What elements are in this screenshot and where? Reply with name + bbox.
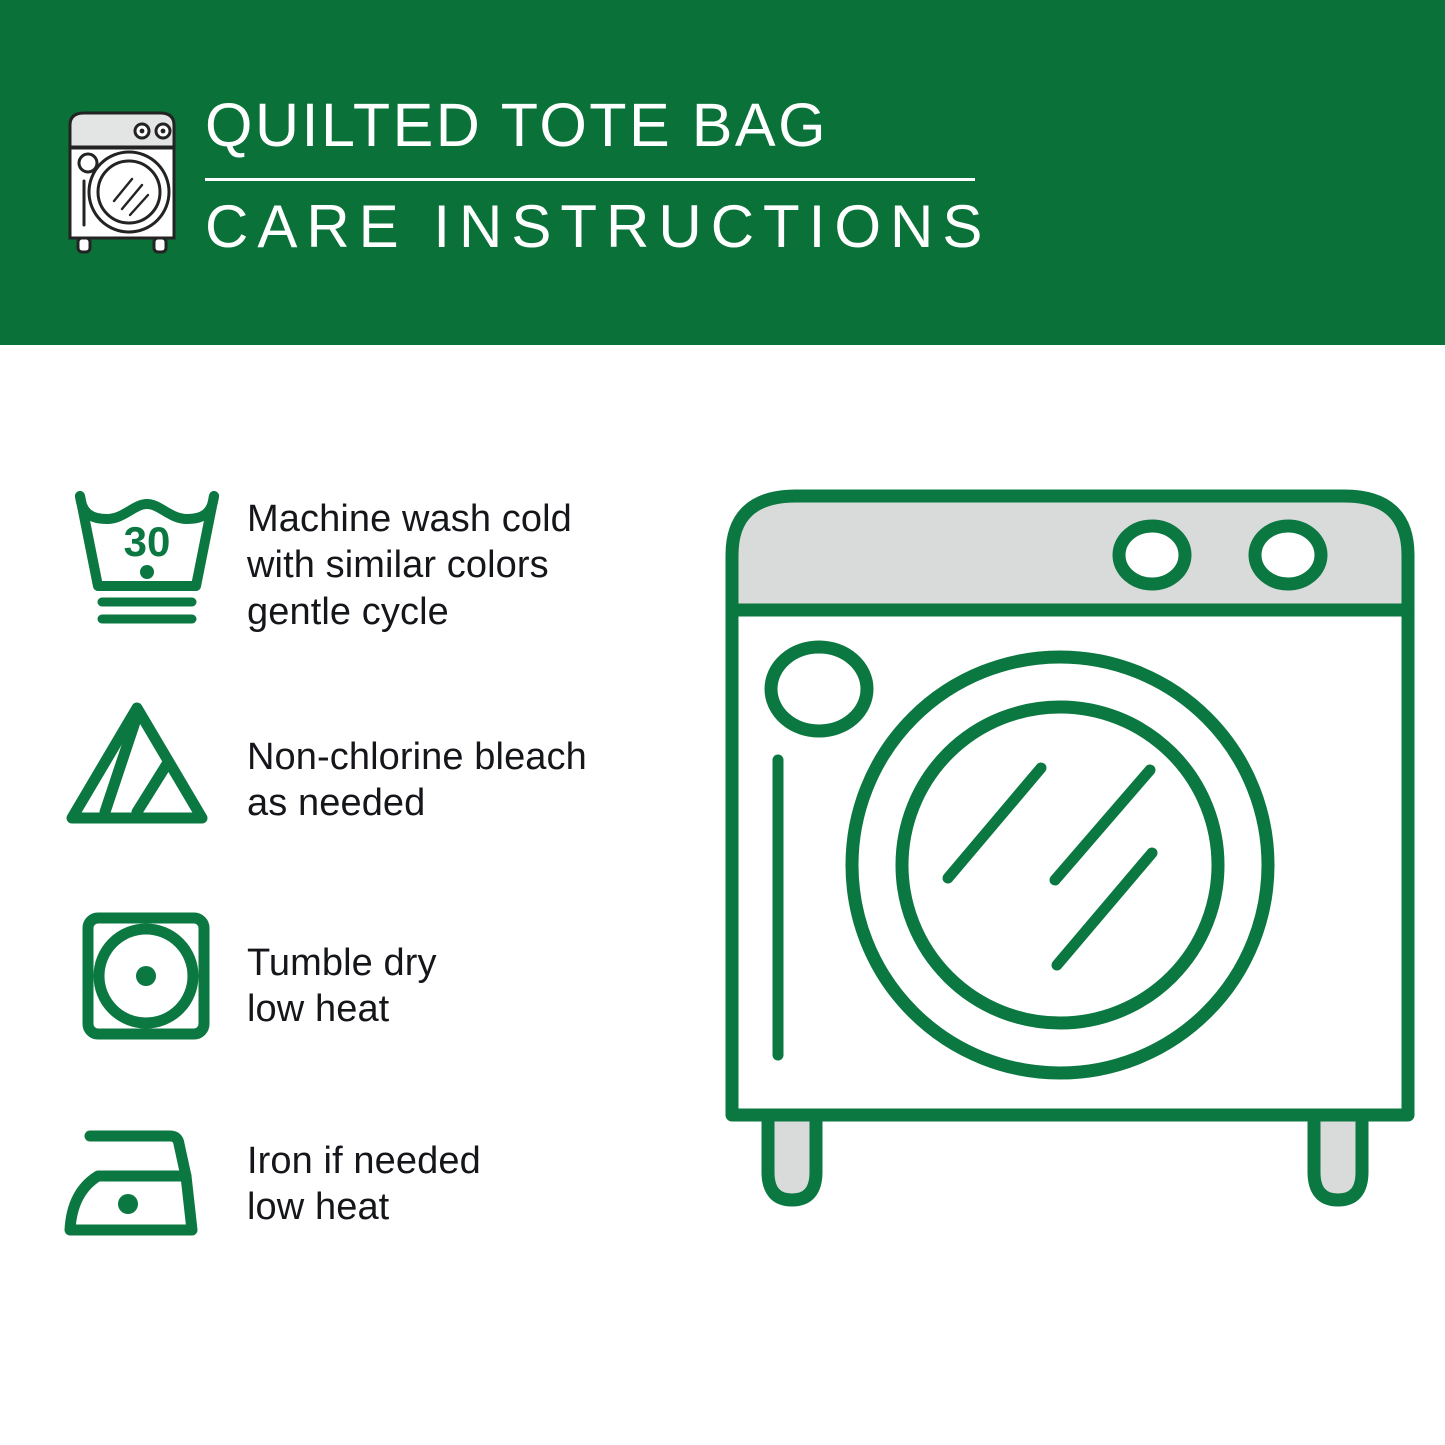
care-row-bleach: Non-chlorine bleach as needed <box>62 688 682 898</box>
door-inner-ring <box>902 707 1218 1023</box>
care-line: Machine wash cold <box>247 496 572 542</box>
care-label-iron: Iron if needed low heat <box>247 1108 481 1231</box>
tumble-dry-low-icon <box>62 898 247 1054</box>
title-divider <box>205 178 975 181</box>
care-instructions-list: 30 Machine wash cold with similar colors… <box>62 478 682 1318</box>
foot-right <box>1314 1115 1362 1200</box>
care-line: gentle cycle <box>247 589 572 635</box>
care-row-iron: Iron if needed low heat <box>62 1108 682 1318</box>
care-line: Tumble dry <box>247 940 437 986</box>
page-subtitle: CARE INSTRUCTIONS <box>205 197 995 257</box>
knob-right <box>1255 526 1321 584</box>
iron-low-heat-icon <box>62 1108 247 1264</box>
care-label-bleach: Non-chlorine bleach as needed <box>247 688 587 827</box>
care-line: low heat <box>247 986 437 1032</box>
care-line: with similar colors <box>247 542 572 588</box>
page-title: QUILTED TOTE BAG <box>205 95 995 156</box>
care-row-machine-wash: 30 Machine wash cold with similar colors… <box>62 478 682 688</box>
knob-left <box>1119 526 1185 584</box>
care-line: Non-chlorine bleach <box>247 734 587 780</box>
care-label-tumble-dry: Tumble dry low heat <box>247 898 437 1033</box>
wash-temp-label: 30 <box>124 518 171 565</box>
washing-machine-illustration <box>700 460 1440 1380</box>
care-line: low heat <box>247 1184 481 1230</box>
care-row-tumble-dry: Tumble dry low heat <box>62 898 682 1108</box>
care-label-machine-wash: Machine wash cold with similar colors ge… <box>247 478 572 635</box>
detergent-port <box>771 647 867 731</box>
washing-machine-icon <box>62 105 182 255</box>
wash-tub-30-icon: 30 <box>62 478 247 634</box>
bleach-triangle-icon <box>62 688 247 844</box>
foot-left <box>768 1115 816 1200</box>
care-line: as needed <box>247 780 587 826</box>
care-line: Iron if needed <box>247 1138 481 1184</box>
header-band: QUILTED TOTE BAG CARE INSTRUCTIONS <box>0 0 1445 345</box>
